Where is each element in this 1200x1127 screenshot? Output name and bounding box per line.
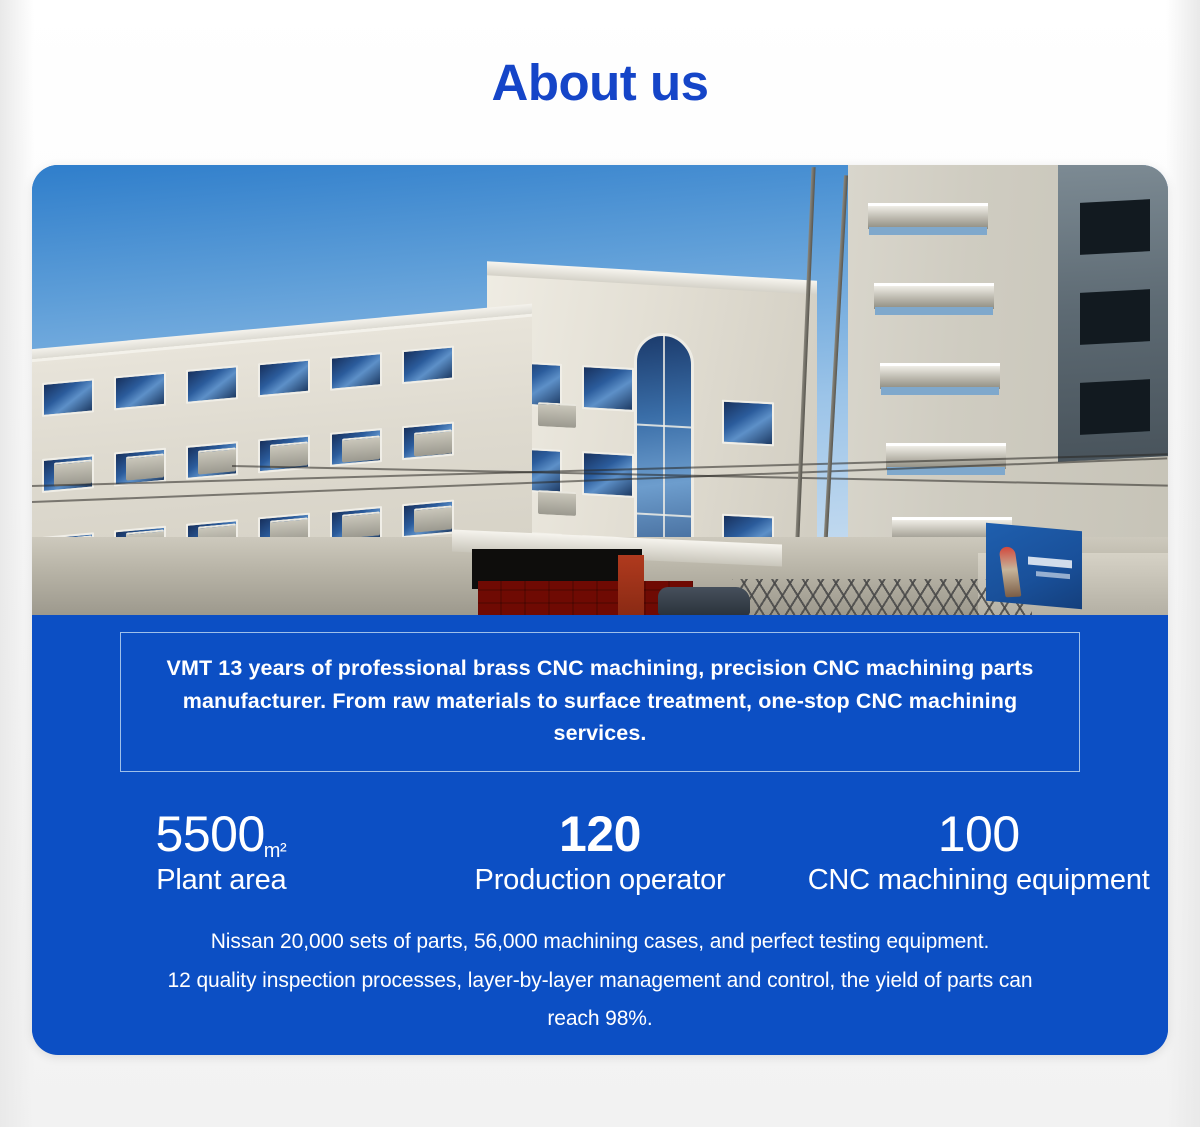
footnote-line-3: reach 98%. — [80, 1000, 1120, 1039]
stats-row: 5500m² Plant area 120 Production operato… — [32, 808, 1168, 897]
window — [42, 378, 94, 417]
stat-cnc-equipment: 100 CNC machining equipment — [789, 808, 1168, 897]
window — [258, 359, 310, 398]
window — [330, 352, 382, 391]
stat-number: 120 — [559, 806, 641, 862]
air-conditioner-unit — [414, 429, 452, 456]
air-conditioner-unit — [270, 441, 308, 468]
stat-plant-area: 5500m² Plant area — [32, 808, 411, 897]
balcony-rail — [875, 307, 993, 315]
page-edge-shade-left — [0, 0, 34, 1127]
stat-value: 100 — [801, 808, 1156, 861]
air-conditioner-unit — [414, 505, 452, 532]
air-conditioner-unit — [538, 490, 576, 516]
window — [114, 372, 166, 411]
far-right-window — [1080, 289, 1150, 345]
banner-text-block — [1028, 556, 1072, 568]
air-conditioner-unit — [342, 435, 380, 462]
stat-unit: m² — [264, 840, 286, 862]
air-conditioner-unit — [538, 402, 576, 428]
window — [582, 365, 634, 412]
factory-photo — [32, 165, 1168, 615]
window — [186, 365, 238, 404]
banner-figure-graphic — [999, 546, 1022, 597]
footnote-line-1: Nissan 20,000 sets of parts, 56,000 mach… — [80, 923, 1120, 962]
balcony-slab — [874, 283, 994, 309]
stat-label: CNC machining equipment — [801, 864, 1156, 897]
page-edge-shade-right — [1166, 0, 1200, 1127]
stat-label: Production operator — [423, 864, 778, 897]
window — [722, 400, 774, 447]
stat-number: 5500 — [156, 806, 265, 862]
red-brick-pillar — [618, 555, 644, 615]
intro-statement: VMT 13 years of professional brass CNC m… — [120, 632, 1080, 772]
banner-text-block — [1036, 571, 1070, 579]
page-title: About us — [0, 53, 1200, 112]
window — [402, 346, 454, 385]
stat-production-operator: 120 Production operator — [411, 808, 790, 897]
far-right-window — [1080, 379, 1150, 435]
far-right-window — [1080, 199, 1150, 255]
air-conditioner-unit — [126, 453, 164, 480]
parked-car — [658, 587, 750, 615]
about-us-card: VMT 13 years of professional brass CNC m… — [32, 165, 1168, 1055]
stat-number: 100 — [938, 806, 1020, 862]
balcony-slab — [880, 363, 1000, 389]
air-conditioner-unit — [342, 511, 380, 538]
card-body: VMT 13 years of professional brass CNC m… — [32, 632, 1168, 1039]
balcony-rail — [881, 387, 999, 395]
stat-value: 5500m² — [44, 808, 399, 861]
air-conditioner-unit — [198, 447, 236, 474]
balcony-slab — [868, 203, 988, 229]
street-banner — [986, 523, 1082, 609]
stat-label: Plant area — [44, 864, 399, 897]
stat-value: 120 — [423, 808, 778, 861]
balcony-rail — [869, 227, 987, 235]
footnote-paragraph: Nissan 20,000 sets of parts, 56,000 mach… — [32, 897, 1168, 1039]
footnote-line-2: 12 quality inspection processes, layer-b… — [80, 962, 1120, 1001]
